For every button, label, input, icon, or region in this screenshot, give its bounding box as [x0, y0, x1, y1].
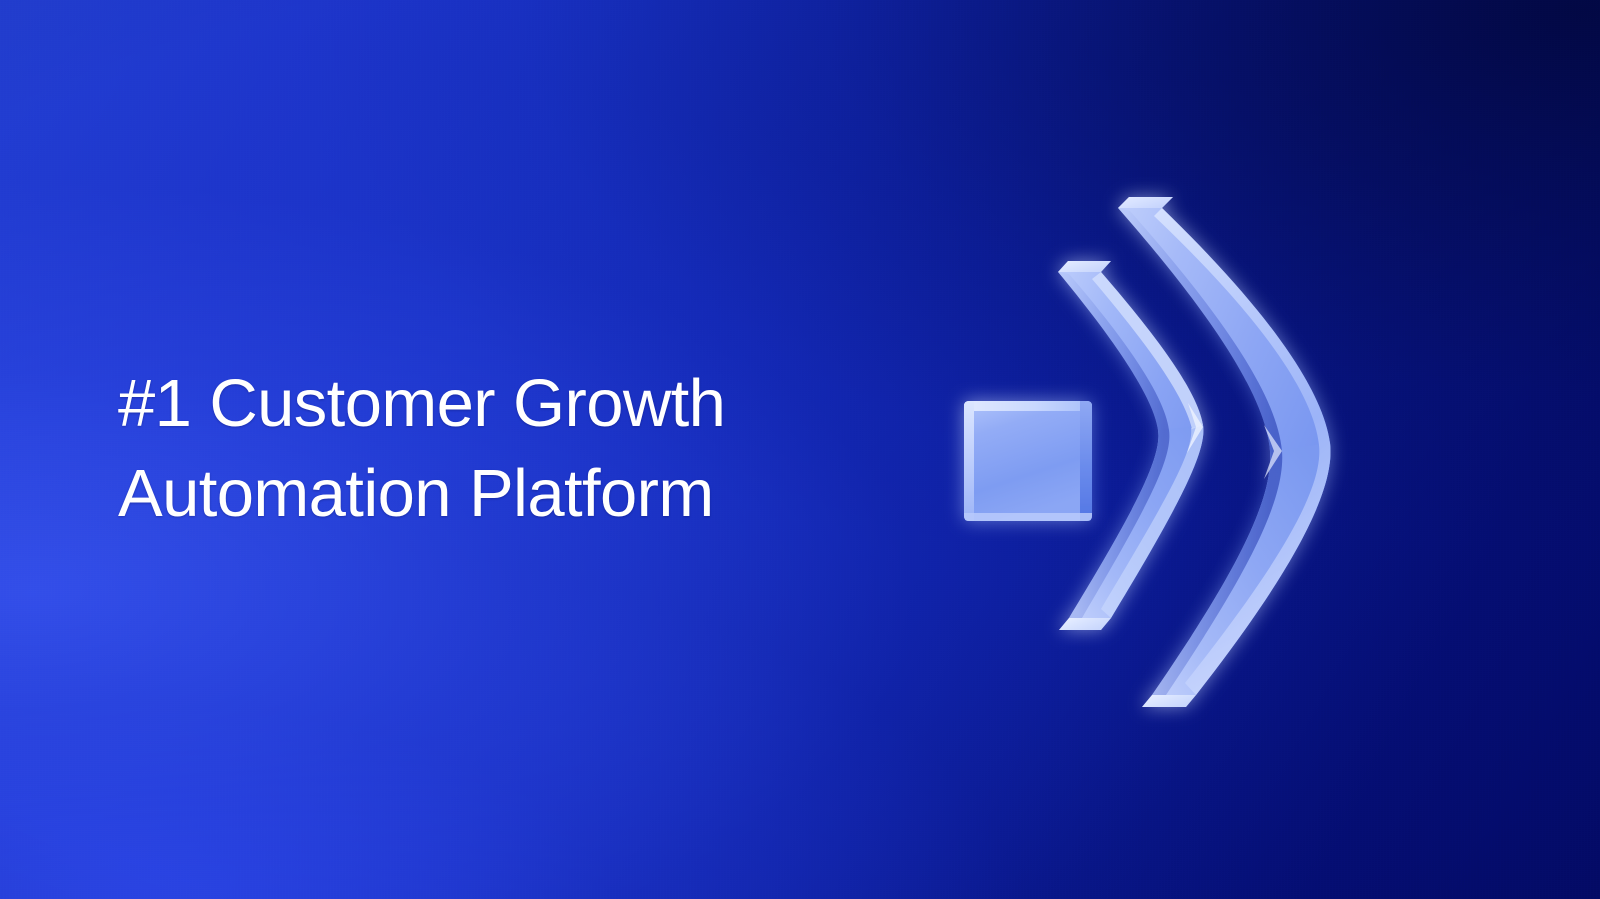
- chevron-square-logo-icon: [930, 175, 1360, 720]
- slide-canvas: #1 Customer Growth Automation Platform: [0, 0, 1600, 899]
- logo-square: [964, 401, 1092, 521]
- logo-chevron-outer: [1118, 197, 1331, 707]
- brand-logo: [930, 175, 1360, 720]
- page-title: #1 Customer Growth Automation Platform: [118, 359, 878, 539]
